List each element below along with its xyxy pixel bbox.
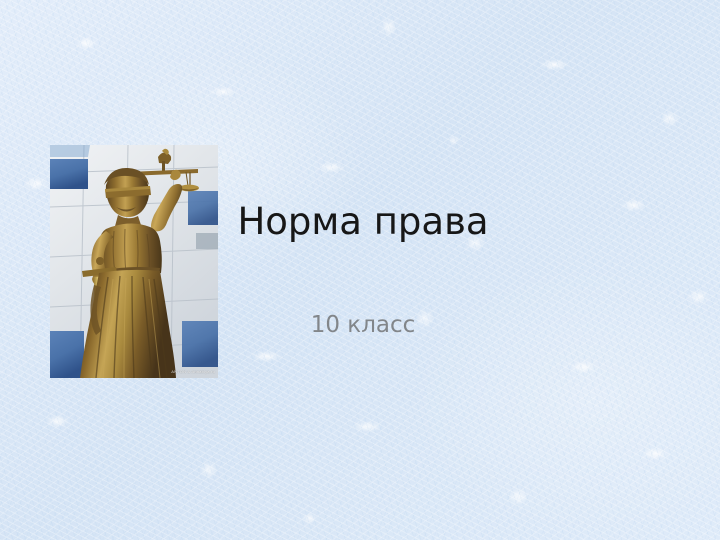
photo-watermark: ANTON & Annablya.ru xyxy=(171,369,215,374)
window-top-left xyxy=(50,159,88,189)
lady-justice-illustration xyxy=(50,145,218,378)
presentation-slide: ANTON & Annablya.ru Норма права 10 класс xyxy=(0,0,720,540)
window-bottom-right xyxy=(182,321,218,367)
window-bottom-left xyxy=(50,331,84,378)
slide-title: Норма права xyxy=(232,203,494,242)
window-right xyxy=(188,191,218,225)
lady-justice-photo[interactable]: ANTON & Annablya.ru xyxy=(50,145,218,378)
facade-vent xyxy=(196,233,218,249)
slide-subtitle: 10 класс xyxy=(232,313,494,338)
